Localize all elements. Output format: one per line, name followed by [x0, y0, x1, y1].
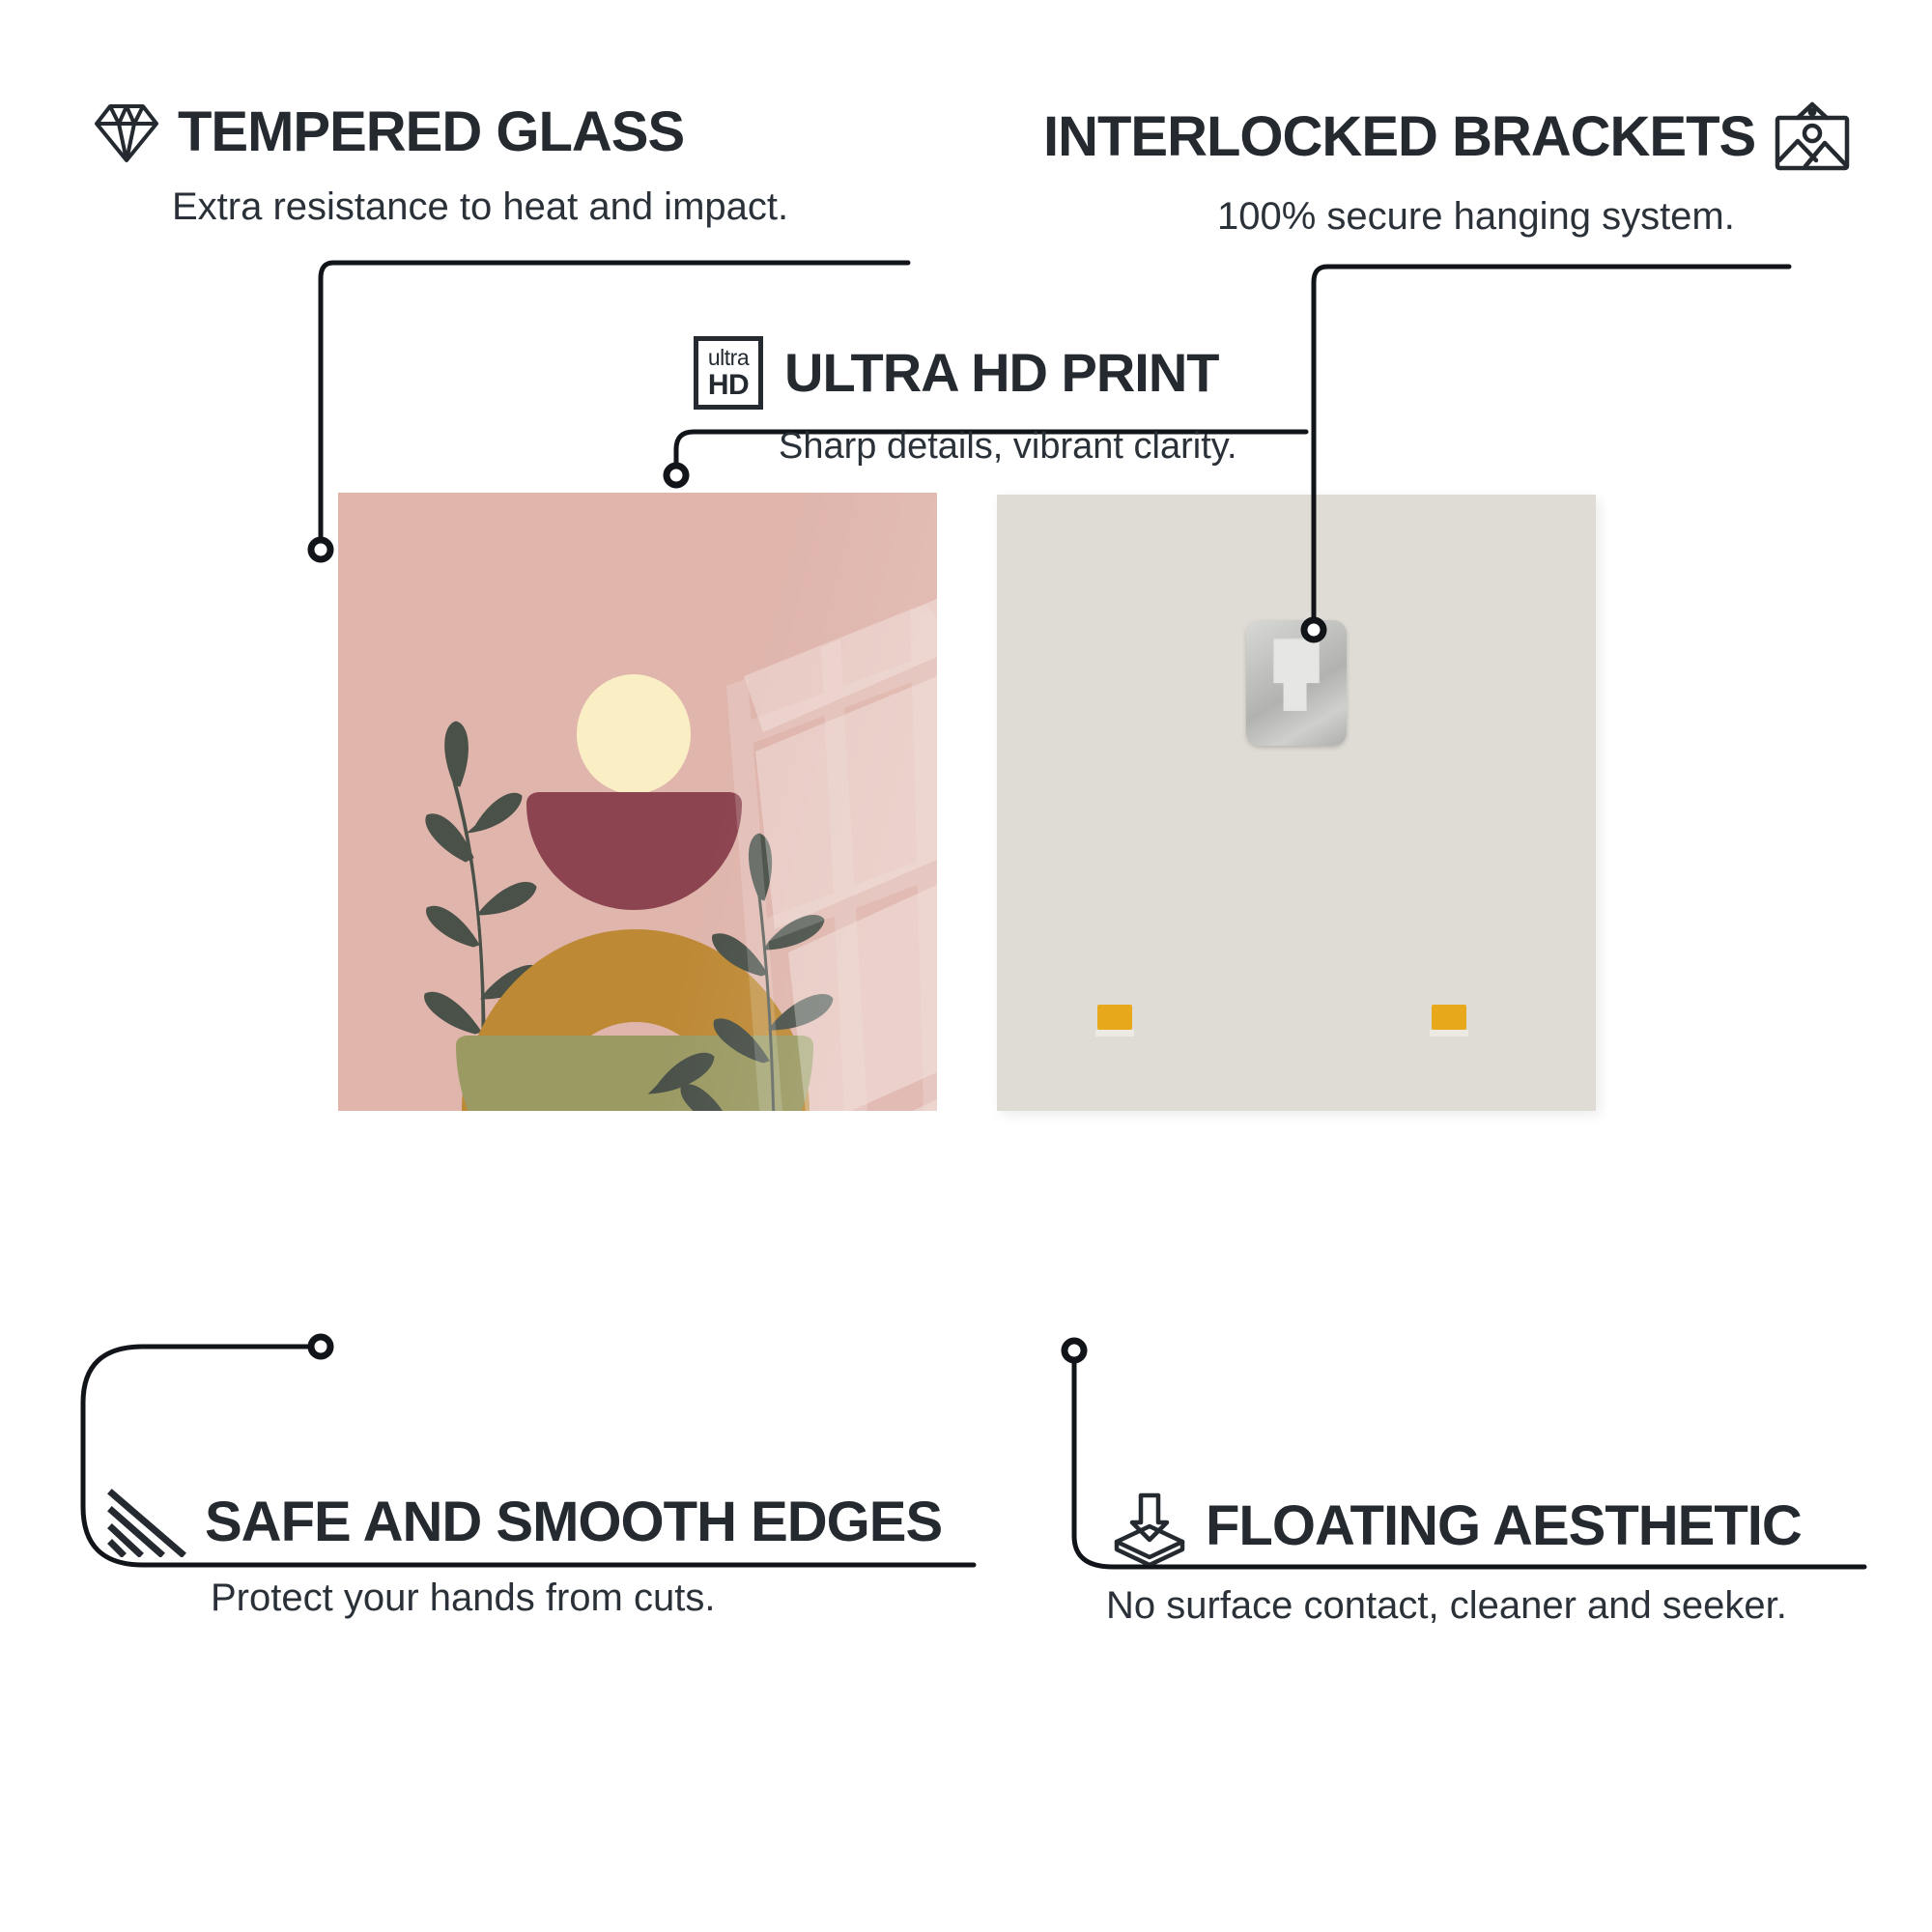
connector-dot-tempered-glass [311, 540, 330, 559]
product-back-panel [997, 495, 1596, 1111]
diagonal-lines-icon [106, 1488, 187, 1557]
feature-interlocked-brackets: INTERLOCKED BRACKETS 100% secure hanging… [1043, 100, 1852, 238]
feature-title: INTERLOCKED BRACKETS [1043, 109, 1755, 165]
ultra-hd-badge-icon: ultra HD [694, 336, 763, 410]
feature-safe-and-smooth-edges: SAFE AND SMOOTH EDGES Protect your hands… [106, 1488, 942, 1619]
feature-subtitle: Extra resistance to heat and impact. [172, 185, 788, 228]
connector-dot-ultra-hd [667, 466, 686, 485]
infographic-canvas: TEMPERED GLASS Extra resistance to heat … [0, 0, 1932, 1932]
feature-subtitle: No surface contact, cleaner and seeker. [1106, 1584, 1802, 1627]
feature-subtitle: 100% secure hanging system. [1217, 195, 1852, 238]
spacer-pad-left [1097, 1005, 1132, 1030]
ultra-hd-badge-top: ultra [708, 347, 749, 369]
feature-floating-aesthetic: FLOATING AESTHETIC No surface contact, c… [1111, 1488, 1802, 1627]
connector-dot-floating [1065, 1341, 1084, 1360]
feature-subtitle: Protect your hands from cuts. [211, 1577, 942, 1619]
spacer-pad-right [1432, 1005, 1466, 1030]
ultra-hd-badge-bottom: HD [708, 371, 749, 400]
artwork-svg [338, 493, 937, 1111]
feature-ultra-hd-print: ultra HD ULTRA HD PRINT Sharp details, v… [694, 336, 1237, 468]
feature-title: SAFE AND SMOOTH EDGES [205, 1494, 942, 1550]
callout-connectors [0, 0, 1932, 1932]
feature-title: ULTRA HD PRINT [784, 346, 1219, 400]
bracket-keyhole-slot [1273, 638, 1320, 711]
picture-frame-icon [1773, 100, 1852, 174]
arrow-into-layers-icon [1111, 1488, 1188, 1565]
feature-subtitle: Sharp details, vibrant clarity. [779, 427, 1237, 468]
product-front-panel [338, 493, 937, 1111]
feature-tempered-glass: TEMPERED GLASS Extra resistance to heat … [93, 100, 788, 228]
feature-title: TEMPERED GLASS [178, 104, 684, 160]
diamond-icon [93, 100, 160, 164]
hanging-bracket [1246, 620, 1347, 746]
feature-title: FLOATING AESTHETIC [1206, 1498, 1802, 1554]
connector-dot-safe-edges [311, 1337, 330, 1356]
